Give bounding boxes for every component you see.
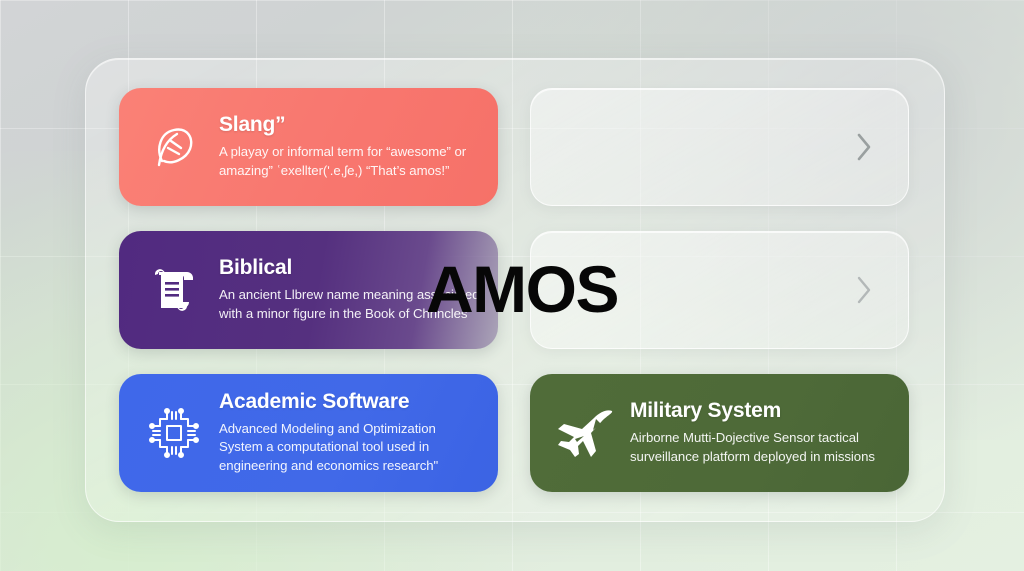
card-title: Military System xyxy=(630,400,891,422)
card-title: Biblical xyxy=(219,257,480,279)
card-description: Airborne Mutti-Dojective Sensor tactical… xyxy=(630,429,891,465)
scroll-icon xyxy=(135,251,213,329)
card-placeholder-top[interactable] xyxy=(530,88,909,206)
card-title: Slang” xyxy=(219,114,480,136)
card-biblical[interactable]: Biblical An ancient Llbrew name meaning … xyxy=(119,231,498,349)
card-placeholder-middle[interactable] xyxy=(530,231,909,349)
card-text-slang: Slang” A playay or informal term for “aw… xyxy=(213,114,484,179)
microchip-icon xyxy=(135,394,213,472)
card-description: A playay or informal term for “awesome” … xyxy=(219,143,480,179)
card-text-biblical: Biblical An ancient Llbrew name meaning … xyxy=(213,257,484,322)
definition-card-grid: Slang” A playay or informal term for “aw… xyxy=(119,88,909,492)
leaf-icon xyxy=(135,108,213,186)
card-description: Advanced Modeling and Optimization Syste… xyxy=(219,420,480,474)
card-description: An ancient Llbrew name meaning associate… xyxy=(219,286,480,322)
card-academic-software[interactable]: Academic Software Advanced Modeling and … xyxy=(119,374,498,492)
fighter-jet-icon xyxy=(546,394,624,472)
card-military-system[interactable]: Military System Airborne Mutti-Dojective… xyxy=(530,374,909,492)
app-canvas: Slang” A playay or informal term for “aw… xyxy=(0,0,1024,571)
card-text-academic: Academic Software Advanced Modeling and … xyxy=(213,391,484,474)
card-slang[interactable]: Slang” A playay or informal term for “aw… xyxy=(119,88,498,206)
chevron-right-icon[interactable] xyxy=(854,130,874,164)
card-title: Academic Software xyxy=(219,391,480,413)
chevron-right-icon[interactable] xyxy=(854,273,874,307)
card-text-military: Military System Airborne Mutti-Dojective… xyxy=(624,400,895,465)
